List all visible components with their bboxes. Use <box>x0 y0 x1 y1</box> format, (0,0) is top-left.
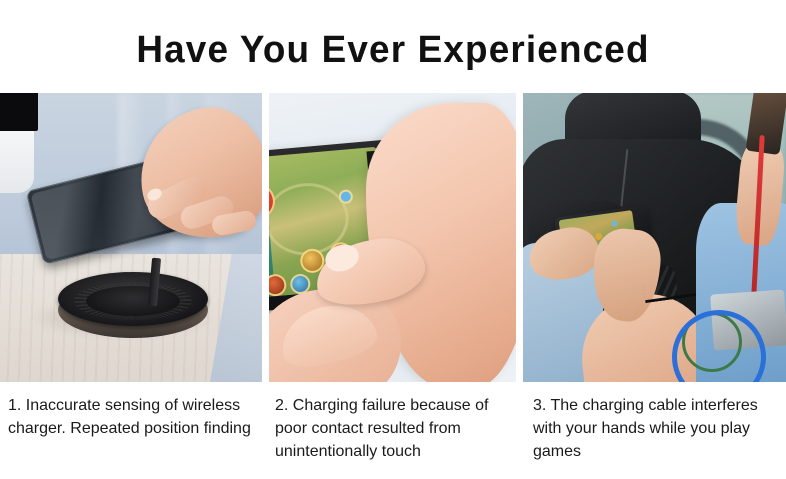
monitor-shape <box>0 93 38 131</box>
fingers <box>274 296 381 374</box>
caption-2: 2. Charging failure because of poor cont… <box>269 394 516 479</box>
page-title-container: Have You Ever Experienced <box>0 28 786 72</box>
panel-image-strip <box>0 93 786 382</box>
driver-smartphone <box>746 93 786 155</box>
game-hud-icon <box>338 189 353 204</box>
charger-inner-disc <box>86 286 180 316</box>
game-hud-icon <box>611 220 618 227</box>
caption-row: 1. Inaccurate sensing of wireless charge… <box>0 394 786 479</box>
panel-image-2 <box>269 93 516 382</box>
monitor-base-shape <box>0 131 34 193</box>
caption-1: 1. Inaccurate sensing of wireless charge… <box>0 394 262 479</box>
panel-image-1 <box>0 93 262 382</box>
caption-3: 3. The charging cable interferes with yo… <box>523 394 786 479</box>
game-hud-icon <box>269 273 287 297</box>
panel-image-3 <box>523 93 786 382</box>
page-title: Have You Ever Experienced <box>12 28 774 72</box>
